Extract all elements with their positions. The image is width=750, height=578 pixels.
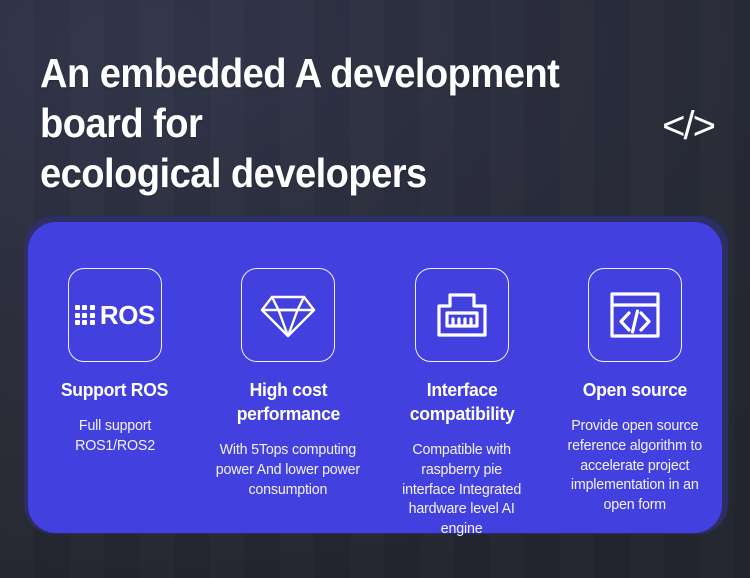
- diamond-icon-frame: [241, 268, 335, 362]
- card-description: Full support ROS1/ROS2: [75, 416, 155, 456]
- ros-icon-frame: ROS: [68, 268, 162, 362]
- card-description: Provide open source reference algorithm …: [568, 416, 702, 515]
- feature-panel: ROS Support ROS Full support ROS1/ROS2: [28, 222, 722, 533]
- promo-banner: An embedded A development board for ecol…: [0, 0, 750, 578]
- card-title: Interface compatibility: [409, 378, 514, 426]
- diamond-icon: [260, 291, 316, 339]
- feature-card-interface-compatibility[interactable]: Interface compatibility Compatible with …: [375, 268, 549, 539]
- ros-wordmark: ROS: [100, 302, 155, 328]
- page-title: An embedded A development board for ecol…: [40, 48, 619, 198]
- feature-card-high-cost-performance[interactable]: High cost performance With 5Tops computi…: [202, 268, 376, 499]
- ethernet-port-icon: [435, 290, 489, 340]
- code-window-icon: [608, 290, 662, 340]
- ros-logo-icon: ROS: [75, 302, 155, 328]
- card-description: Compatible with raspberry pie interface …: [402, 440, 521, 539]
- code-brackets-icon: </>: [662, 106, 714, 146]
- card-description: With 5Tops computing power And lower pow…: [216, 440, 360, 499]
- code-window-icon-frame: [588, 268, 682, 362]
- card-title: High cost performance: [237, 378, 340, 426]
- feature-card-support-ros[interactable]: ROS Support ROS Full support ROS1/ROS2: [28, 268, 202, 456]
- card-title: Open source: [583, 378, 687, 402]
- header: An embedded A development board for ecol…: [40, 48, 722, 198]
- card-title: Support ROS: [61, 378, 168, 402]
- ros-dot-grid-icon: [75, 305, 95, 325]
- feature-card-open-source[interactable]: Open source Provide open source referenc…: [549, 268, 723, 515]
- ethernet-icon-frame: [415, 268, 509, 362]
